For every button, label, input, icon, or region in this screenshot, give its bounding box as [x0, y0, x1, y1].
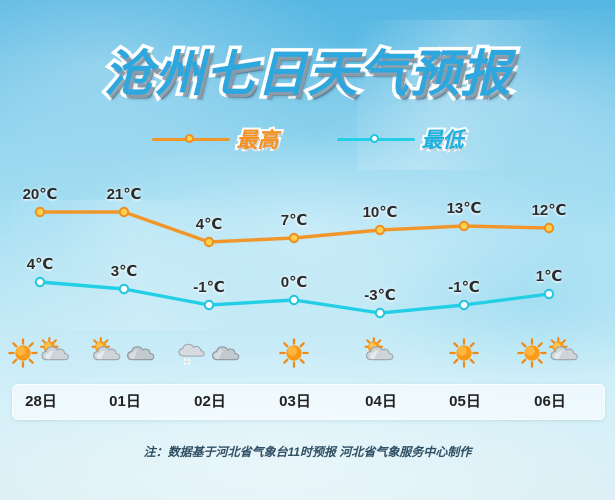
- weather-icon-cell: [449, 330, 479, 376]
- data-point-marker: [376, 309, 384, 317]
- temperature-label: 20℃: [23, 185, 58, 203]
- footer-note: 注：数据基于河北省气象台11时预报 河北省气象服务中心制作: [0, 443, 615, 460]
- sun-icon: [8, 338, 38, 368]
- sun-icon: [517, 338, 547, 368]
- sun-cloud-icon: [91, 337, 124, 370]
- date-label: 28日: [25, 385, 57, 419]
- temperature-label: 4℃: [27, 255, 54, 273]
- weather-icon-cell: [91, 330, 158, 376]
- data-point-marker: [376, 226, 384, 234]
- cloud-icon: [210, 337, 243, 370]
- temperature-label: 1℃: [536, 267, 563, 285]
- date-label: 04日: [365, 385, 397, 419]
- sun-cloud-icon: [548, 337, 581, 370]
- temperature-label: -3℃: [364, 286, 396, 304]
- data-point-marker: [205, 238, 213, 246]
- weather-icon-cell: [364, 330, 397, 376]
- weather-icon-cell: [8, 330, 72, 376]
- sun-cloud-icon: [364, 337, 397, 370]
- data-point-marker: [545, 290, 553, 298]
- temperature-label: 3℃: [111, 262, 138, 280]
- temperature-label: -1℃: [448, 278, 480, 296]
- date-label: 03日: [279, 385, 311, 419]
- sun-icon: [449, 338, 479, 368]
- sun-icon: [279, 338, 309, 368]
- date-label: 01日: [109, 385, 141, 419]
- data-point-marker: [120, 208, 128, 216]
- data-point-marker: [36, 208, 44, 216]
- weather-icon-row: [0, 330, 615, 380]
- temperature-label: 7℃: [281, 211, 308, 229]
- sun-cloud-icon: [39, 337, 72, 370]
- snow-cloud-icon: [176, 337, 209, 370]
- data-point-marker: [290, 234, 298, 242]
- data-point-marker: [290, 296, 298, 304]
- temperature-label: 4℃: [196, 215, 223, 233]
- data-point-marker: [460, 301, 468, 309]
- temperature-label: 13℃: [447, 199, 482, 217]
- temperature-line-chart: [0, 0, 615, 500]
- data-point-marker: [205, 301, 213, 309]
- date-label: 05日: [449, 385, 481, 419]
- cloud-icon: [125, 337, 158, 370]
- weather-forecast-poster: 沧州七日天气预报 最高 最低 20℃21℃4℃7℃10℃13℃12℃ 4℃3℃-…: [0, 0, 615, 500]
- temperature-label: 0℃: [281, 273, 308, 291]
- data-point-marker: [545, 224, 553, 232]
- weather-icon-cell: [176, 330, 243, 376]
- weather-icon-cell: [279, 330, 309, 376]
- temperature-label: 21℃: [107, 185, 142, 203]
- data-point-marker: [460, 222, 468, 230]
- date-axis-bar: 28日01日02日03日04日05日06日: [12, 384, 605, 420]
- date-label: 06日: [534, 385, 566, 419]
- temperature-label: 12℃: [532, 201, 567, 219]
- temperature-label: 10℃: [363, 203, 398, 221]
- date-label: 02日: [194, 385, 226, 419]
- weather-icon-cell: [517, 330, 581, 376]
- temperature-label: -1℃: [193, 278, 225, 296]
- data-point-marker: [36, 278, 44, 286]
- data-point-marker: [120, 285, 128, 293]
